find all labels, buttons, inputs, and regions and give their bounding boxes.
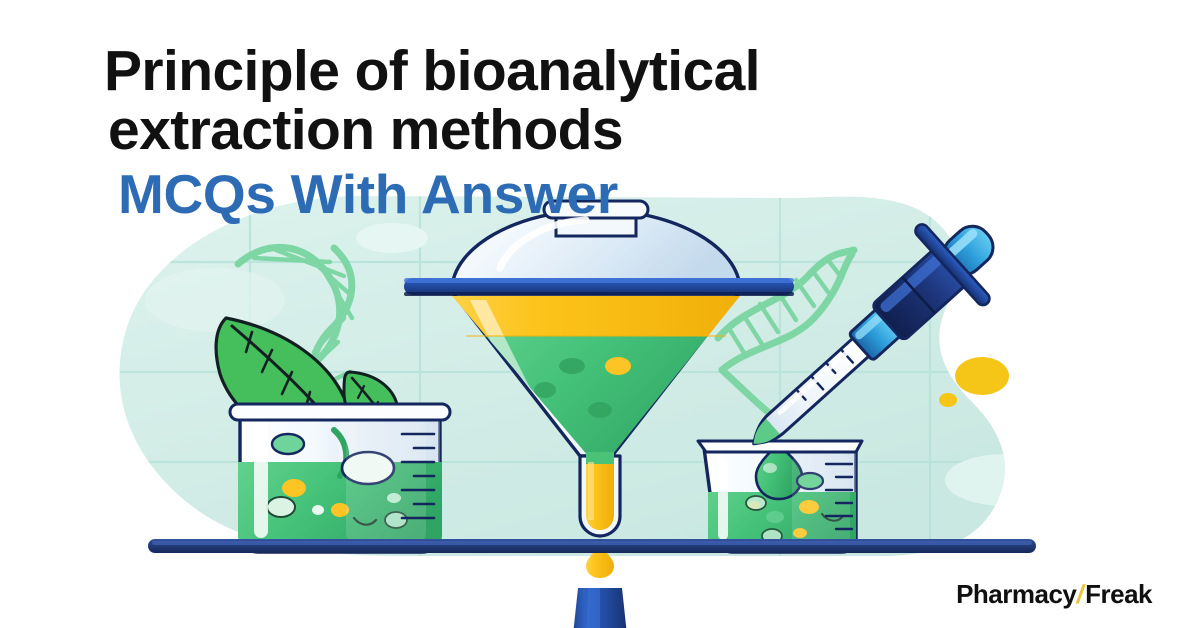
funnel-stand <box>566 588 634 628</box>
brand-watermark: Pharmacy/Freak <box>956 579 1152 610</box>
brand-name-first: Pharmacy <box>956 579 1076 610</box>
lab-table <box>148 539 1036 553</box>
left-beaker <box>230 404 450 558</box>
right-beaker <box>698 441 866 556</box>
brand-name-second: Freak <box>1085 579 1152 610</box>
poster-canvas: Principle of bioanalytical extraction me… <box>0 0 1200 628</box>
laboratory-illustration <box>0 0 1200 628</box>
